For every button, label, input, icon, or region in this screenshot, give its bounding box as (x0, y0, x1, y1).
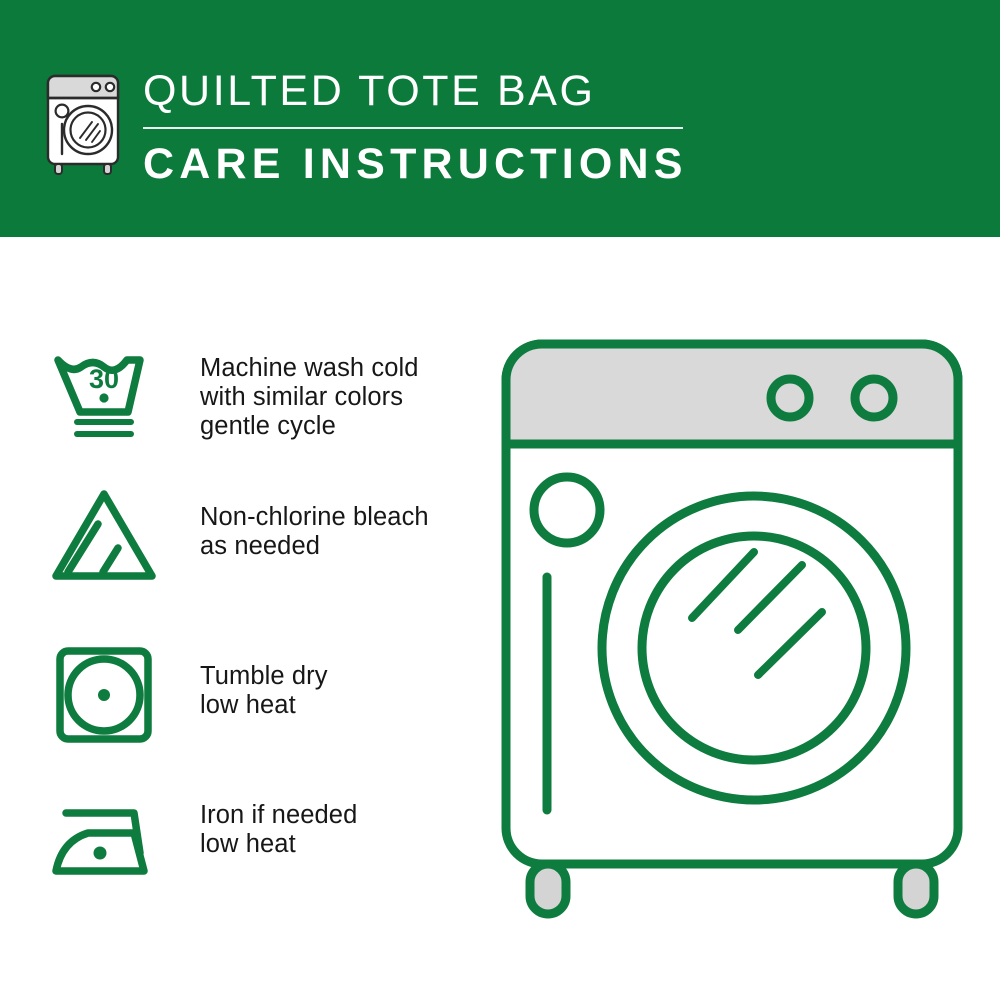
care-row: 30 Machine wash cold with similar colors… (0, 340, 470, 470)
wash-temp-label: 30 (89, 364, 119, 394)
page-subtitle: CARE INSTRUCTIONS (143, 139, 743, 189)
machine-leg (530, 864, 566, 914)
tumble-dry-low-icon (48, 637, 160, 749)
header-title-block: QUILTED TOTE BAG CARE INSTRUCTIONS (143, 66, 743, 189)
door-inner-ring (642, 536, 866, 760)
iron-low-heat-icon (48, 787, 160, 899)
non-chlorine-bleach-icon (48, 480, 160, 592)
care-instruction-text: Tumble dry low heat (200, 662, 328, 720)
detergent-dial (534, 477, 600, 543)
control-knob (771, 379, 809, 417)
care-instruction-text: Non-chlorine bleach as needed (200, 503, 429, 561)
care-instruction-list: 30 Machine wash cold with similar colors… (0, 237, 490, 1000)
machine-leg (898, 864, 934, 914)
care-row: Non-chlorine bleach as needed (0, 480, 470, 610)
machine-wash-30-gentle-icon: 30 (48, 340, 160, 452)
page-title: QUILTED TOTE BAG (143, 66, 743, 116)
care-instruction-text: Machine wash cold with similar colors ge… (200, 354, 419, 441)
care-instructions-infographic: QUILTED TOTE BAG CARE INSTRUCTIONS (0, 0, 1000, 1000)
care-row: Iron if needed low heat (0, 787, 470, 917)
title-divider (143, 127, 683, 129)
control-knob (855, 379, 893, 417)
care-row: Tumble dry low heat (0, 637, 470, 767)
washing-machine-icon (44, 72, 122, 176)
washing-machine-illustration (492, 330, 972, 930)
care-instruction-text: Iron if needed low heat (200, 801, 357, 859)
header-banner: QUILTED TOTE BAG CARE INSTRUCTIONS (0, 0, 1000, 237)
